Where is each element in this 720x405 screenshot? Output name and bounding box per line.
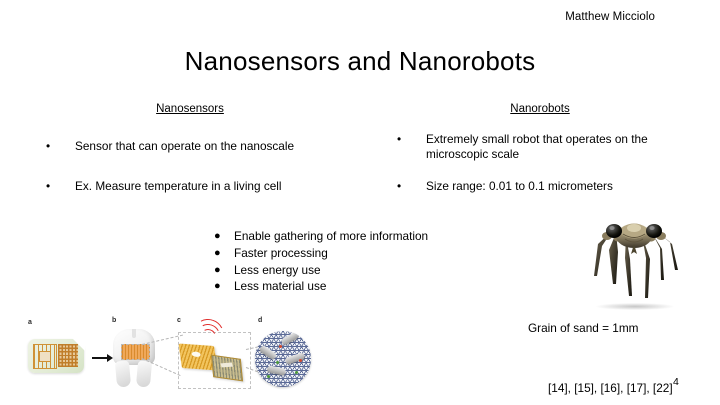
panel-label-c: c — [177, 317, 181, 324]
tooth-root-left — [115, 360, 131, 387]
bullet-marker-icon: • — [397, 132, 401, 147]
nanotube-icon — [259, 345, 278, 361]
list-item: • Extremely small robot that operates on… — [395, 132, 695, 161]
sensor-chip-graphic — [28, 339, 84, 373]
list-item-text: Enable gathering of more information — [234, 229, 428, 243]
tooth-graphic — [112, 329, 156, 387]
flexible-sensor-graphic — [211, 355, 243, 382]
binding-node-icon — [267, 375, 270, 378]
nanorobot-image — [582, 214, 687, 314]
nanosensors-bullet-list: • Sensor that can operate on the nanosca… — [44, 139, 354, 218]
list-item: ● Enable gathering of more information — [214, 228, 514, 245]
list-item-text: Faster processing — [234, 246, 328, 260]
list-item-text: Less energy use — [234, 263, 321, 277]
nanorobots-bullet-list: • Extremely small robot that operates on… — [395, 132, 695, 212]
column-heading-nanosensors: Nanosensors — [110, 103, 270, 115]
nanotube-icon — [280, 331, 299, 346]
panel-label-d: d — [258, 317, 262, 324]
column-heading-nanorobots: Nanorobots — [460, 103, 620, 115]
tooth-mounted-sensor — [121, 344, 150, 360]
graphene-lattice-graphic — [255, 331, 311, 387]
list-item: • Sensor that can operate on the nanosca… — [44, 139, 354, 154]
binding-node-icon — [279, 345, 282, 348]
nanotube-icon — [284, 352, 305, 365]
binding-node-icon — [299, 359, 302, 362]
references-text: [14], [15], [16], [17], [22] — [548, 381, 673, 395]
chip-electrode-grid-icon — [58, 344, 78, 367]
page-number: 4 — [673, 376, 679, 388]
page-title: Nanosensors and Nanorobots — [0, 46, 720, 77]
list-item: • Size range: 0.01 to 0.1 micrometers — [395, 179, 695, 194]
list-item-text: Size range: 0.01 to 0.1 micrometers — [426, 179, 613, 193]
list-item: ● Less material use — [214, 278, 514, 295]
binding-node-icon — [276, 361, 279, 364]
bullet-marker-icon: • — [46, 139, 50, 154]
tooth-notch — [132, 329, 136, 338]
list-item-text: Less material use — [234, 279, 326, 293]
author-name: Matthew Micciolo — [0, 11, 655, 23]
bullet-marker-icon: • — [397, 179, 401, 194]
panel-label-b: b — [112, 317, 116, 324]
bullet-dot-icon: ● — [214, 262, 221, 279]
list-item: • Ex. Measure temperature in a living ce… — [44, 179, 354, 194]
list-item-text: Ex. Measure temperature in a living cell — [75, 179, 282, 193]
bullet-dot-icon: ● — [214, 278, 221, 295]
nanotube-icon — [266, 365, 286, 376]
bullet-marker-icon: • — [46, 179, 50, 194]
nanorobot-caption: Grain of sand = 1mm — [528, 321, 638, 335]
tooth-root-right — [136, 360, 152, 387]
robot-shadow — [596, 303, 674, 310]
list-item: ● Less energy use — [214, 262, 514, 279]
chip-antenna-coil-icon — [33, 344, 57, 369]
list-item-text: Sensor that can operate on the nanoscale — [75, 139, 294, 153]
binding-node-icon — [295, 371, 298, 374]
slide-canvas: Matthew Micciolo Nanosensors and Nanorob… — [0, 0, 720, 405]
bullet-dot-icon: ● — [214, 245, 221, 262]
arrow-right-icon — [92, 357, 108, 359]
list-item: ● Faster processing — [214, 245, 514, 262]
benefits-bullet-list: ● Enable gathering of more information ●… — [214, 228, 514, 295]
bullet-dot-icon: ● — [214, 228, 221, 245]
list-item-text: Extremely small robot that operates on t… — [426, 132, 648, 161]
nanosensor-figure: a b c d — [22, 313, 304, 391]
panel-label-a: a — [28, 319, 32, 326]
